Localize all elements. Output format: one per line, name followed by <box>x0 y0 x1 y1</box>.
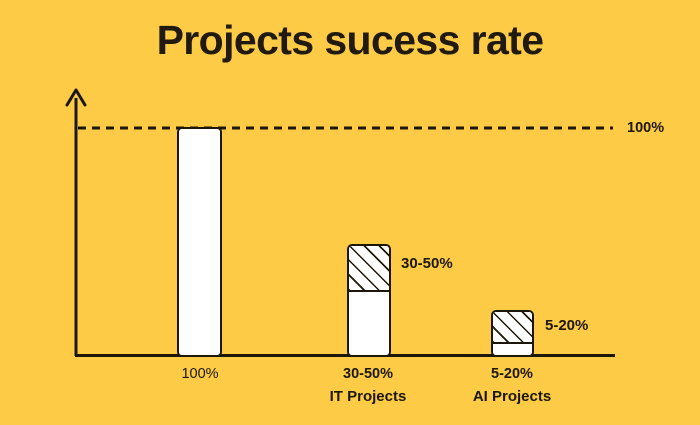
threshold-line-label: 100% <box>627 119 664 137</box>
chart-axes <box>0 0 700 425</box>
bar-ai-projects-plain-segment <box>493 344 532 357</box>
bar-ai-projects-callout: 5-20% <box>545 317 588 335</box>
x-tick-value-100: 100% <box>140 364 260 385</box>
x-tick-group-100: 100% <box>140 364 260 385</box>
bar-it-projects-hatched-segment <box>349 246 389 291</box>
bar-it-projects <box>347 244 391 357</box>
x-tick-value-ai-projects: 5-20% <box>452 364 572 385</box>
bar-ai-projects <box>491 310 534 357</box>
x-tick-value-it-projects: 30-50% <box>308 364 428 385</box>
bar-100 <box>177 127 222 357</box>
infographic-canvas: Projects sucess rate 100% <box>0 0 700 425</box>
bar-100-plain-segment <box>179 129 220 355</box>
bar-ai-projects-hatched-segment <box>493 312 532 343</box>
x-tick-group-ai-projects: 5-20% AI Projects <box>452 364 572 409</box>
bar-it-projects-callout: 30-50% <box>401 255 453 273</box>
chart-plot-area: 100% 30-50% 5-20% 100% 30-50% IT Project… <box>0 0 700 425</box>
x-tick-name-it-projects: IT Projects <box>308 385 428 409</box>
x-tick-group-it-projects: 30-50% IT Projects <box>308 364 428 409</box>
bar-it-projects-plain-segment <box>349 292 389 357</box>
x-tick-name-ai-projects: AI Projects <box>452 385 572 409</box>
